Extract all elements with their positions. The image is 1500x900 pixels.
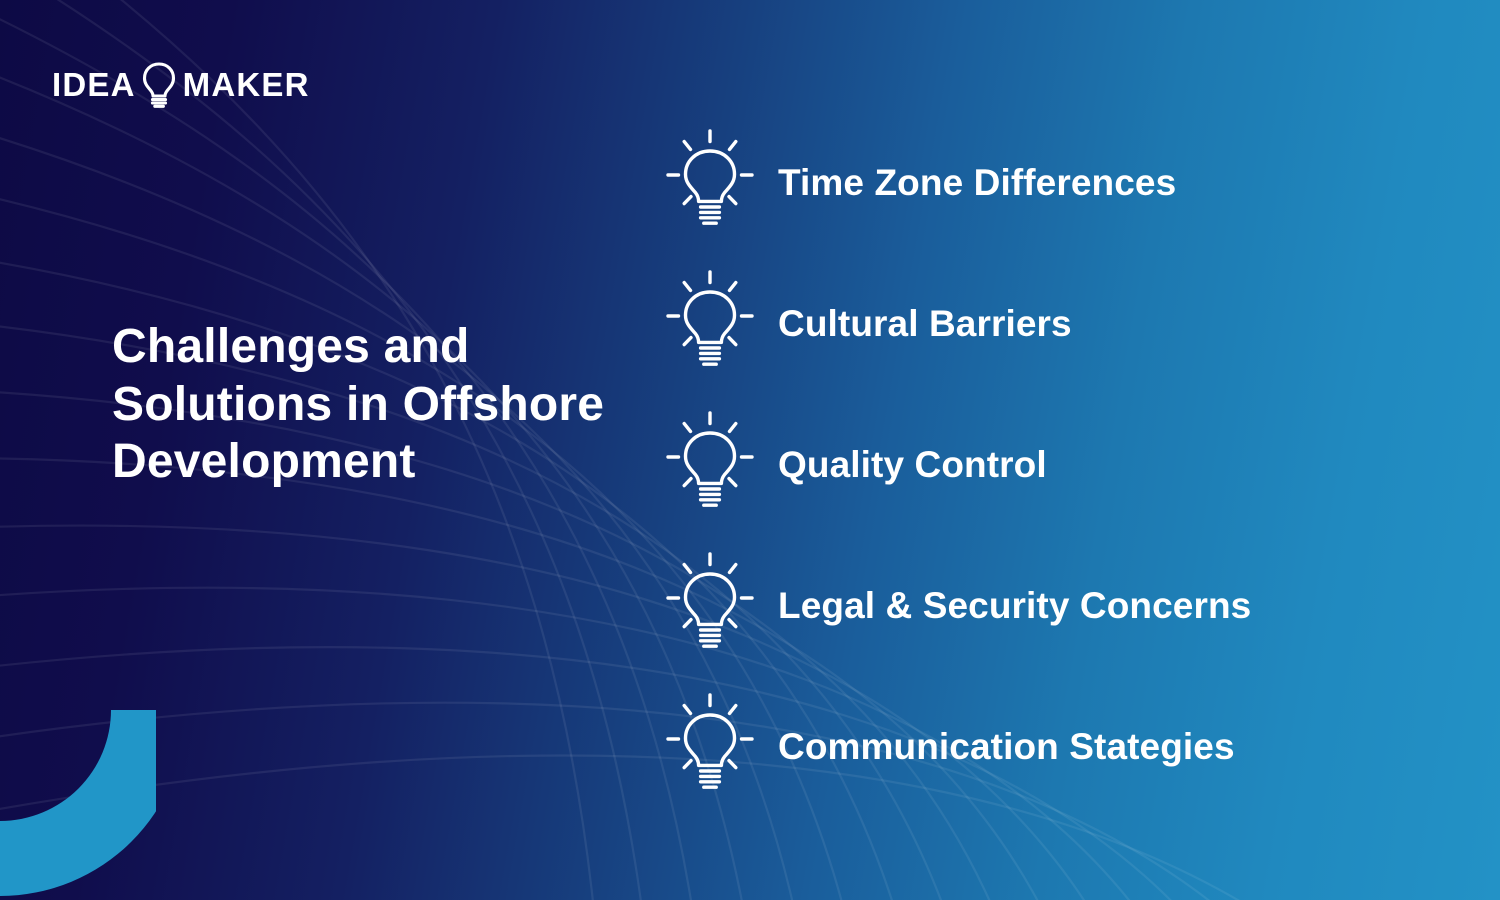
list-item[interactable]: Communication Stategies (664, 676, 1464, 817)
lightbulb-icon (664, 129, 756, 237)
challenges-list: Time Zone Differences (664, 112, 1464, 817)
list-item-label: Legal & Security Concerns (778, 585, 1251, 627)
list-item[interactable]: Quality Control (664, 394, 1464, 535)
list-item-label: Cultural Barriers (778, 303, 1072, 345)
list-item-label: Time Zone Differences (778, 162, 1176, 204)
lightbulb-icon (664, 270, 756, 378)
lightbulb-icon (664, 411, 756, 519)
slide-canvas: IDEA MAKER Challenges and Solutions in O… (0, 0, 1500, 900)
list-item-label: Communication Stategies (778, 726, 1235, 768)
lightbulb-icon (137, 58, 181, 110)
lightbulb-icon (664, 693, 756, 801)
list-item-label: Quality Control (778, 444, 1047, 486)
list-item[interactable]: Cultural Barriers (664, 253, 1464, 394)
lightbulb-icon (664, 552, 756, 660)
logo-text-maker: MAKER (183, 68, 310, 101)
quarter-ring-shape (0, 706, 156, 900)
list-item[interactable]: Legal & Security Concerns (664, 535, 1464, 676)
logo-text-idea: IDEA (52, 68, 136, 101)
list-item[interactable]: Time Zone Differences (664, 112, 1464, 253)
brand-logo[interactable]: IDEA MAKER (52, 58, 310, 110)
page-title: Challenges and Solutions in Offshore Dev… (112, 318, 622, 491)
